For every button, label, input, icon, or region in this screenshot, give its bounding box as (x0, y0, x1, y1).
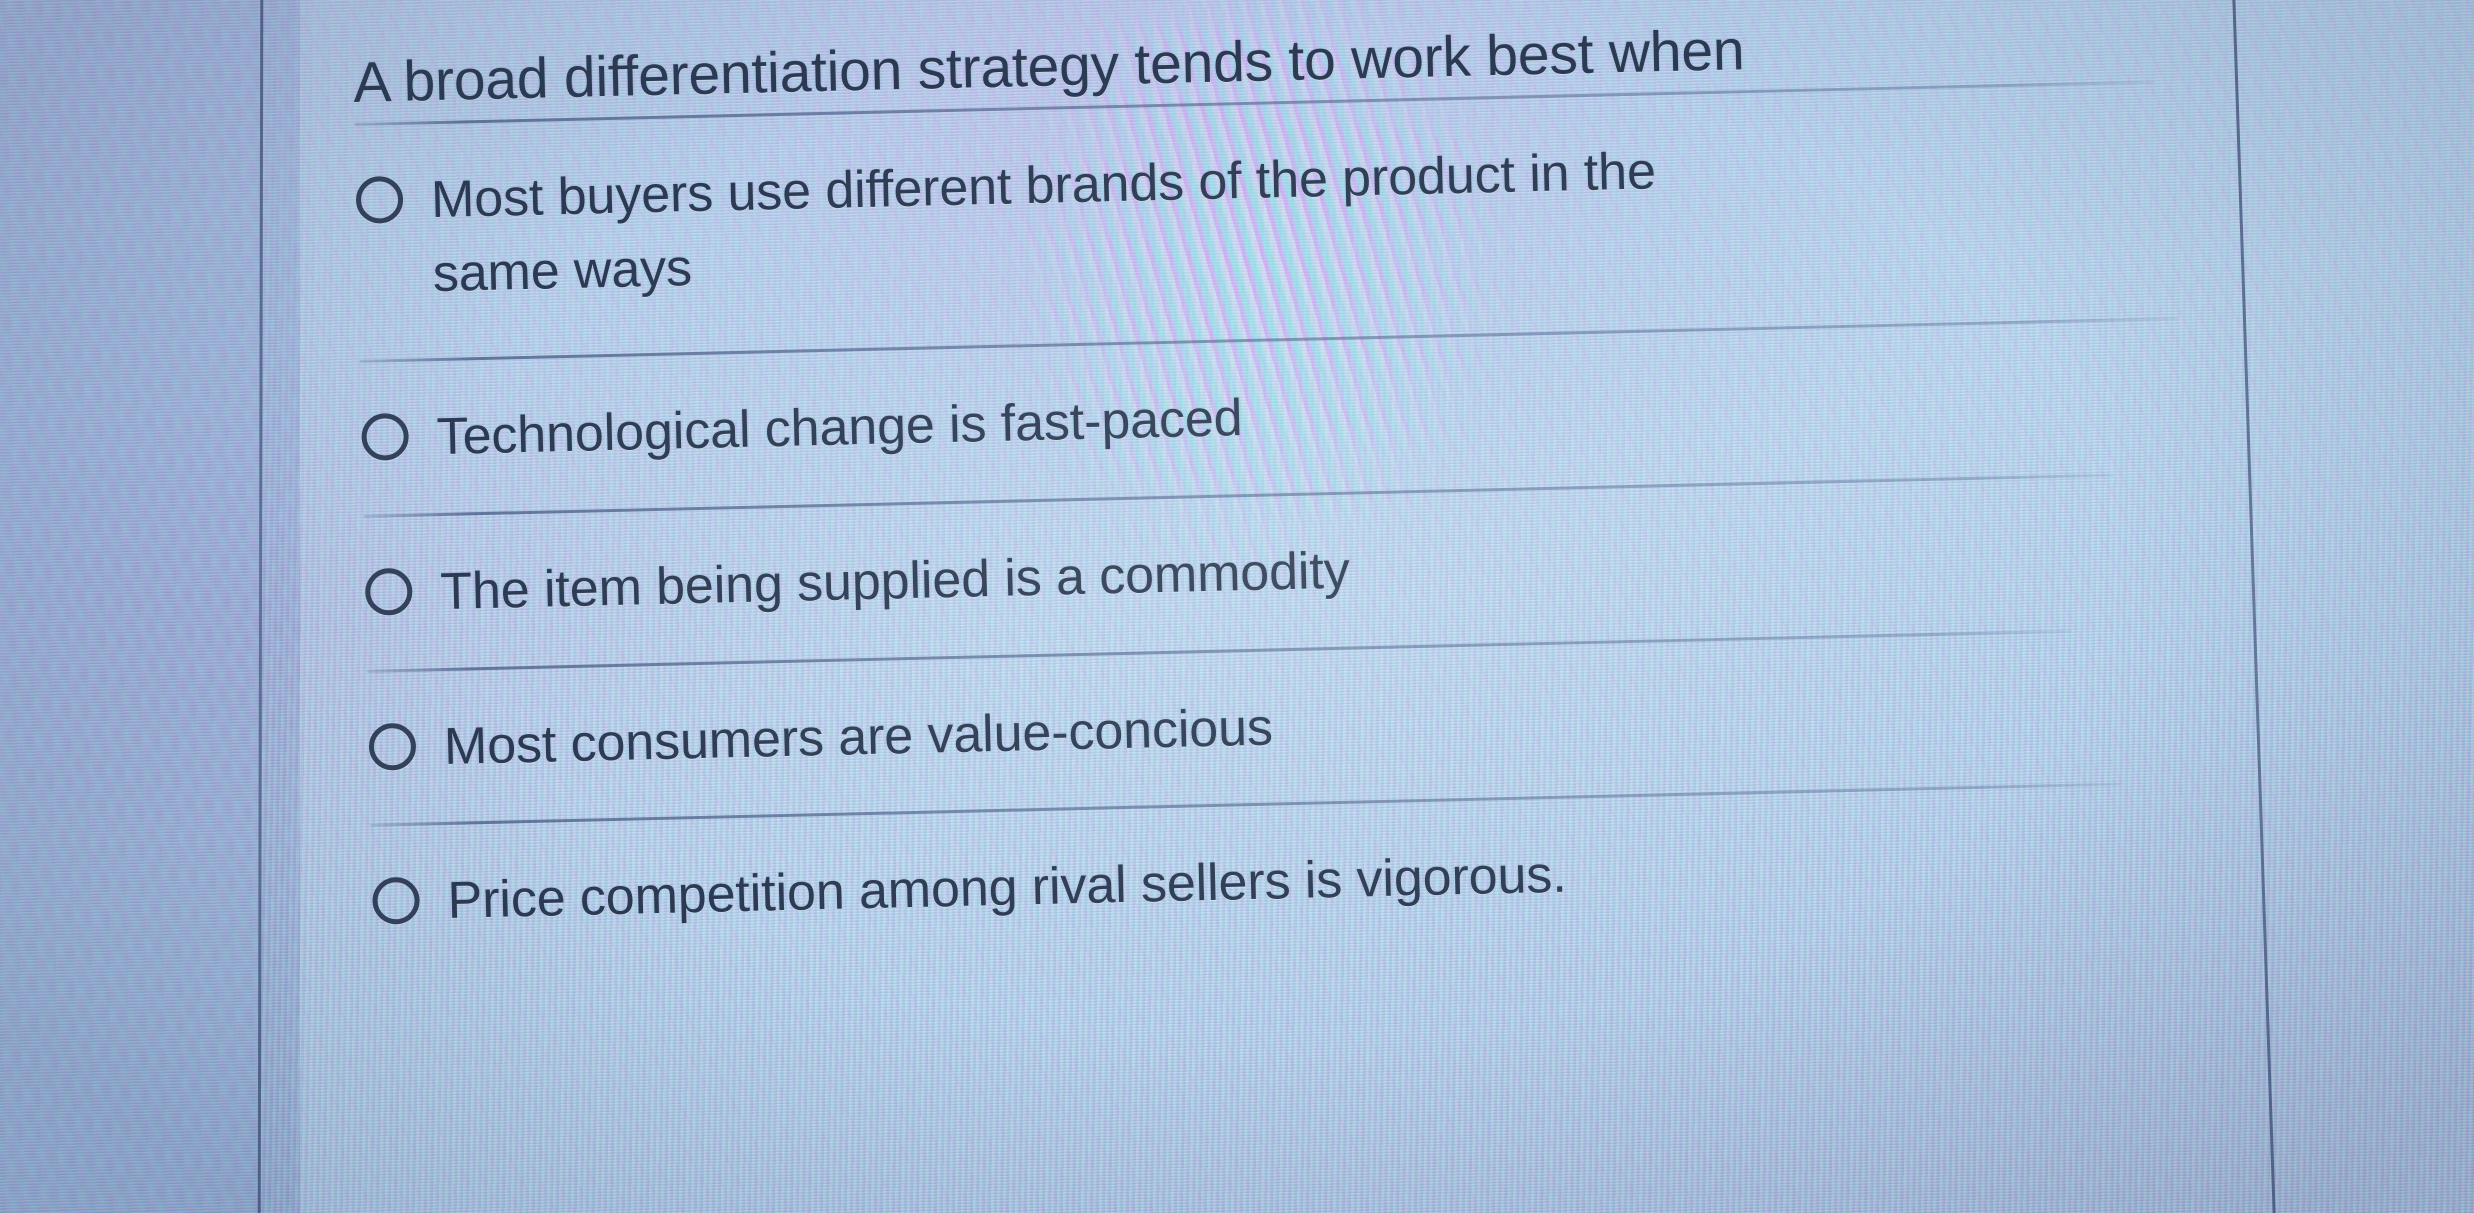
option-label-3: The item being supplied is a commodity (439, 534, 1350, 629)
option-label-5: Price competition among rival sellers is… (447, 839, 1568, 939)
radio-button-icon-4[interactable] (368, 722, 416, 770)
option-label-1: Most buyers use different brands of the … (430, 134, 1743, 312)
screen-photo: A broad differentiation strategy tends t… (0, 0, 2474, 1213)
option-label-4: Most consumers are value-concious (443, 691, 1274, 784)
option-row-1[interactable]: Most buyers use different brands of the … (354, 82, 2219, 359)
radio-button-icon-3[interactable] (365, 567, 413, 615)
radio-button-icon-5[interactable] (372, 877, 420, 925)
option-label-2: Technological change is fast-paced (436, 382, 1244, 475)
question-card: A broad differentiation strategy tends t… (352, 0, 2234, 979)
radio-button-icon-2[interactable] (361, 413, 409, 461)
radio-button-icon-1[interactable] (356, 176, 404, 224)
left-margin-shading (0, 0, 300, 1213)
